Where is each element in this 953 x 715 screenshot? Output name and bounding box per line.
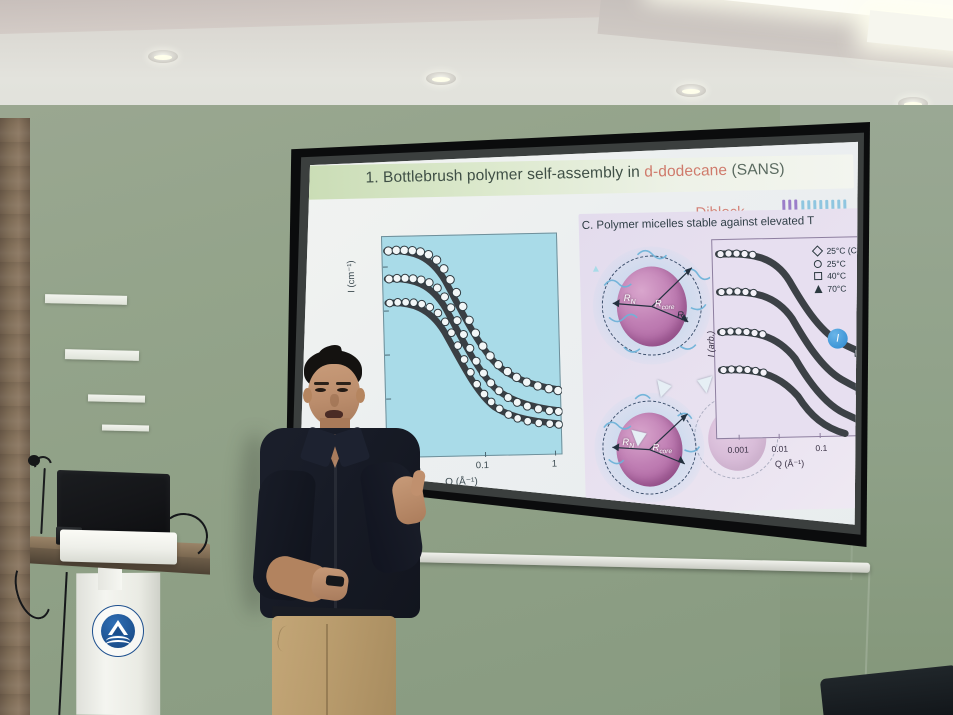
presenter-ear [356,388,365,403]
presenter [226,350,438,715]
title-tail: (SANS) [727,161,785,179]
circle-marker-icon [814,260,822,268]
x-tick-label: 0.1 [476,460,489,471]
legend-item: 40°C [814,269,858,283]
triangle-marker-icon [814,285,822,293]
presenter-eye [337,388,348,392]
diamond-marker-icon [812,246,823,257]
legend-item: 25°C (Cool) [813,244,858,258]
x-tick-label: 0.001 [727,445,749,455]
university-emblem [92,605,144,657]
square-marker-icon [814,272,822,280]
legend-label: 40°C [827,271,846,281]
temperature-chart-legend: 25°C (Cool) 25°C 40°C 70°C [813,244,858,295]
downlight-icon [148,50,178,63]
y-axis-label: I (arb.) [705,331,716,358]
title-highlight: d-dodecane [644,162,727,181]
wave-emblem-icon [105,640,131,645]
title-number: 1. [365,169,379,186]
micelle-diagram-top: RN Rcore Rg [591,245,712,365]
downlight-icon [676,84,706,97]
presenter-pants-pleat [326,624,328,715]
x-tick-label: 1 [552,459,558,470]
legend-label: 25°C [827,258,846,268]
presentation-clicker[interactable] [326,575,345,587]
legend-item: 70°C [814,281,858,295]
presenter-brow [336,382,351,385]
wall-decor-strip [45,294,127,305]
legend-label: 70°C [827,283,846,293]
x-tick-label: 0.01 [771,444,788,454]
downlight-icon [426,72,456,85]
x-tick-label: 0.1 [815,443,827,453]
presenter-brow [314,382,329,385]
x-axis-label: Q (Å⁻¹) [775,458,805,470]
wall-decor-strip [102,425,149,432]
legend-item: 25°C [814,256,858,270]
presenter-eye [315,388,326,392]
presenter-nose [330,394,339,407]
wall-decor-strip [65,349,139,361]
wall-decor-strip [88,394,145,402]
legend-label: 25°C (Cool) [826,245,858,256]
lecture-room-scene: 1. Bottlebrush polymer self-assembly in … [0,0,953,715]
triangle-inner-icon [112,626,124,635]
presenter-ear [303,388,312,403]
microphone-head-icon [28,455,40,466]
y-axis-label: I (cm⁻¹) [346,260,358,293]
wood-wall-panel [0,118,30,715]
